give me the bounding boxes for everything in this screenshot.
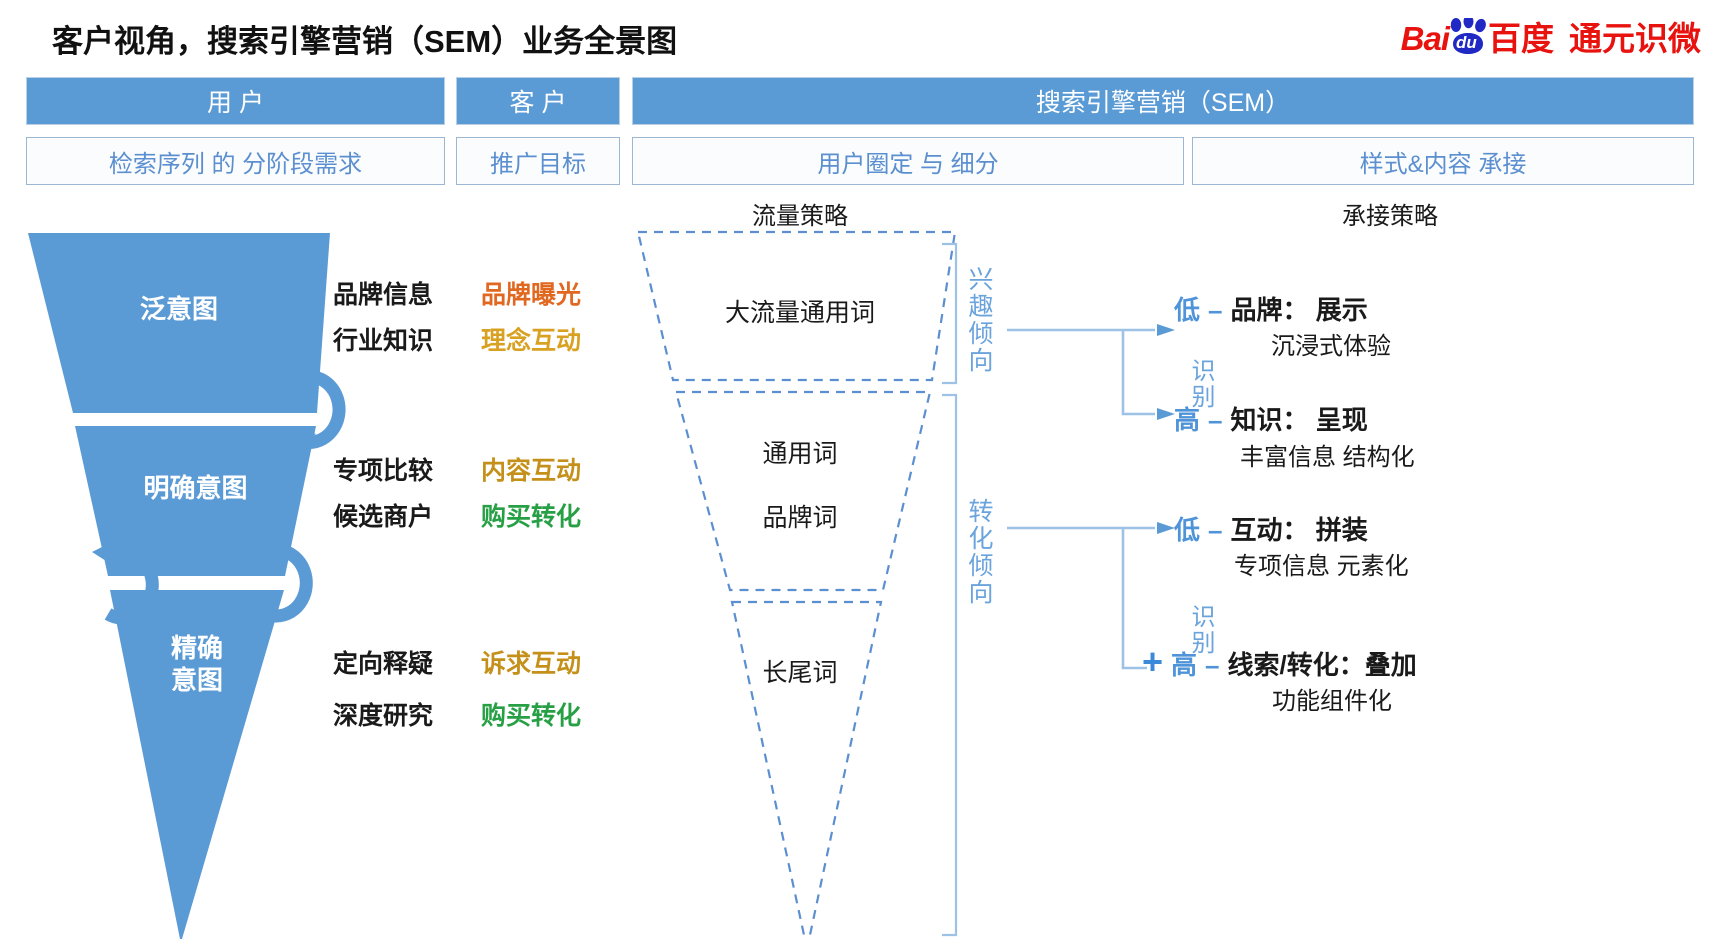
logo-baidu-chinese: 百度 [1488,22,1554,55]
goal-label-3: 内容互动 [481,451,581,487]
subbar-user-segment: 用户圈定 与 细分 [632,137,1184,185]
branch-main-1-2: 知识： 呈现 [1230,400,1367,437]
segment-brackets-graphic [938,235,962,939]
funnel-stage-2-label: 明确意图 [75,473,316,505]
branch-level-1-1: 低 [1174,290,1200,327]
goal-label-6: 购买转化 [481,696,581,732]
branch-sub-1-2: 丰富信息 结构化 [1240,437,1415,472]
header-bar-user: 用 户 [26,77,445,125]
need-label-3: 专项比较 [333,451,433,487]
need-label-2: 行业知识 [333,321,433,357]
need-label-6: 深度研究 [333,696,433,732]
page-title: 客户视角，搜索引擎营销（SEM）业务全景图 [52,16,677,61]
baidu-logo: Bai du 百度 通元识微 [1401,14,1701,62]
goal-label-1: 品牌曝光 [481,275,581,311]
goal-label-4: 购买转化 [481,497,581,533]
branch-row-low-interaction: 低 – 互动： 拼装 [1174,510,1368,547]
middle-segment-label-3: 品牌词 [640,498,960,534]
acceptance-strategy-title: 承接策略 [1270,196,1510,231]
middle-segment-label-1: 大流量通用词 [640,293,960,329]
branch-main-2-1: 互动： 拼装 [1230,510,1367,547]
branch-row-high-lead: + 高 – 线索/转化：叠加 [1142,644,1417,682]
funnel-stage-3-line2: 意图 [110,665,284,697]
branch-sub-1-1: 沉浸式体验 [1271,326,1391,361]
header-bar-customer: 客 户 [456,77,620,125]
need-label-4: 候选商户 [333,497,433,533]
branch-row-low-brand: 低 – 品牌： 展示 [1174,290,1368,327]
funnel-stage-3-label: 精确 意图 [110,633,284,696]
branch-main-2-2: 线索/转化：叠加 [1228,645,1417,682]
goal-label-5: 诉求互动 [481,644,581,680]
branch-sub-2-1: 专项信息 元素化 [1234,546,1409,581]
branch-level-2-1: 低 [1174,510,1200,547]
plus-icon: + [1142,644,1163,680]
subbar-search-sequence: 检索序列 的 分阶段需求 [26,137,445,185]
middle-segment-label-4: 长尾词 [640,653,960,689]
branch-dash-2-2: – [1205,650,1219,681]
branch-sub-2-2: 功能组件化 [1272,681,1392,716]
need-label-1: 品牌信息 [333,275,433,311]
branch-level-2-2: 高 [1171,645,1197,682]
logo-du-text: du [1456,34,1477,51]
baidu-paw-icon: du [1447,20,1491,56]
logo-bai-text: Bai [1401,22,1449,55]
header-bar-sem: 搜索引擎营销（SEM） [632,77,1694,125]
logo-product-name: 通元识微 [1569,22,1701,55]
goal-label-2: 理念互动 [481,321,581,357]
bracket-label-interest: 兴趣倾向 [966,266,991,374]
branch-dash-2-1: – [1208,515,1222,546]
branch-dash-1-1: – [1208,295,1222,326]
branch-level-1-2: 高 [1174,400,1200,437]
subbar-promo-goal: 推广目标 [456,137,620,185]
branch-row-high-knowledge: 高 – 知识： 呈现 [1174,400,1368,437]
bracket-label-conversion: 转化倾向 [966,498,991,606]
middle-segment-label-2: 通用词 [640,434,960,470]
subbar-style-content: 样式&内容 承接 [1192,137,1694,185]
need-label-5: 定向释疑 [333,644,433,680]
funnel-stage-3-line1: 精确 [110,633,284,665]
branch-main-1-1: 品牌： 展示 [1230,290,1367,327]
branch-dash-1-2: – [1208,405,1222,436]
funnel-stage-1-label: 泛意图 [28,294,330,326]
